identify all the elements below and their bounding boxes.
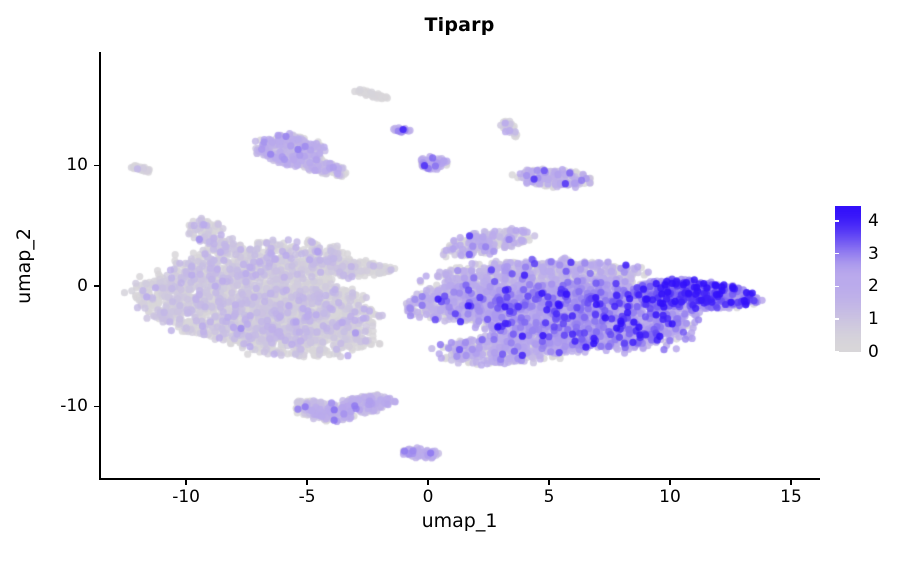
x-tick-mark xyxy=(306,480,308,485)
colorbar-tick-mark-inner xyxy=(835,286,839,288)
y-axis-spine xyxy=(99,52,101,480)
colorbar-tick-mark xyxy=(861,286,865,288)
colorbar-tick-mark xyxy=(861,318,865,320)
y-tick-label: -10 xyxy=(60,396,88,416)
colorbar-tick-label: 0 xyxy=(868,342,879,362)
x-tick-mark xyxy=(185,480,187,485)
y-tick-mark xyxy=(94,285,99,287)
colorbar-gradient xyxy=(835,206,861,352)
page-title: Tiparp xyxy=(99,14,820,36)
colorbar-tick-label: 3 xyxy=(868,244,879,264)
colorbar-tick-label: 1 xyxy=(868,309,879,329)
y-tick-mark xyxy=(94,406,99,408)
x-tick-label: -5 xyxy=(299,487,316,507)
scatter-plot-canvas xyxy=(99,52,820,480)
plot-axes-area xyxy=(99,52,820,480)
y-tick-label: 0 xyxy=(77,276,88,296)
colorbar-tick-label: 2 xyxy=(868,276,879,296)
colorbar: 43210 xyxy=(835,206,911,352)
colorbar-tick-mark xyxy=(861,253,865,255)
x-tick-mark xyxy=(790,480,792,485)
colorbar-tick-mark xyxy=(861,220,865,222)
x-tick-mark xyxy=(427,480,429,485)
colorbar-tick-mark-inner xyxy=(835,351,839,353)
y-tick-mark xyxy=(94,165,99,167)
x-axis-label: umap_1 xyxy=(99,510,820,532)
x-tick-label: 15 xyxy=(780,487,802,507)
x-axis-spine xyxy=(99,478,820,480)
colorbar-tick-mark-inner xyxy=(835,253,839,255)
colorbar-tick-mark-inner xyxy=(835,220,839,222)
x-tick-label: 10 xyxy=(659,487,681,507)
colorbar-tick-label: 4 xyxy=(868,211,879,231)
colorbar-tick-mark-inner xyxy=(835,318,839,320)
y-axis-label-wrapper: umap_2 xyxy=(24,0,25,562)
y-axis-label: umap_2 xyxy=(13,228,35,304)
x-tick-label: 0 xyxy=(423,487,434,507)
x-tick-label: 5 xyxy=(544,487,555,507)
x-tick-mark xyxy=(669,480,671,485)
y-tick-label: 10 xyxy=(66,155,88,175)
colorbar-tick-mark xyxy=(861,351,865,353)
figure-canvas: Tiparp -10-5051015 -10010 umap_1 umap_2 … xyxy=(0,0,911,562)
x-tick-label: -10 xyxy=(172,487,200,507)
x-tick-mark xyxy=(548,480,550,485)
